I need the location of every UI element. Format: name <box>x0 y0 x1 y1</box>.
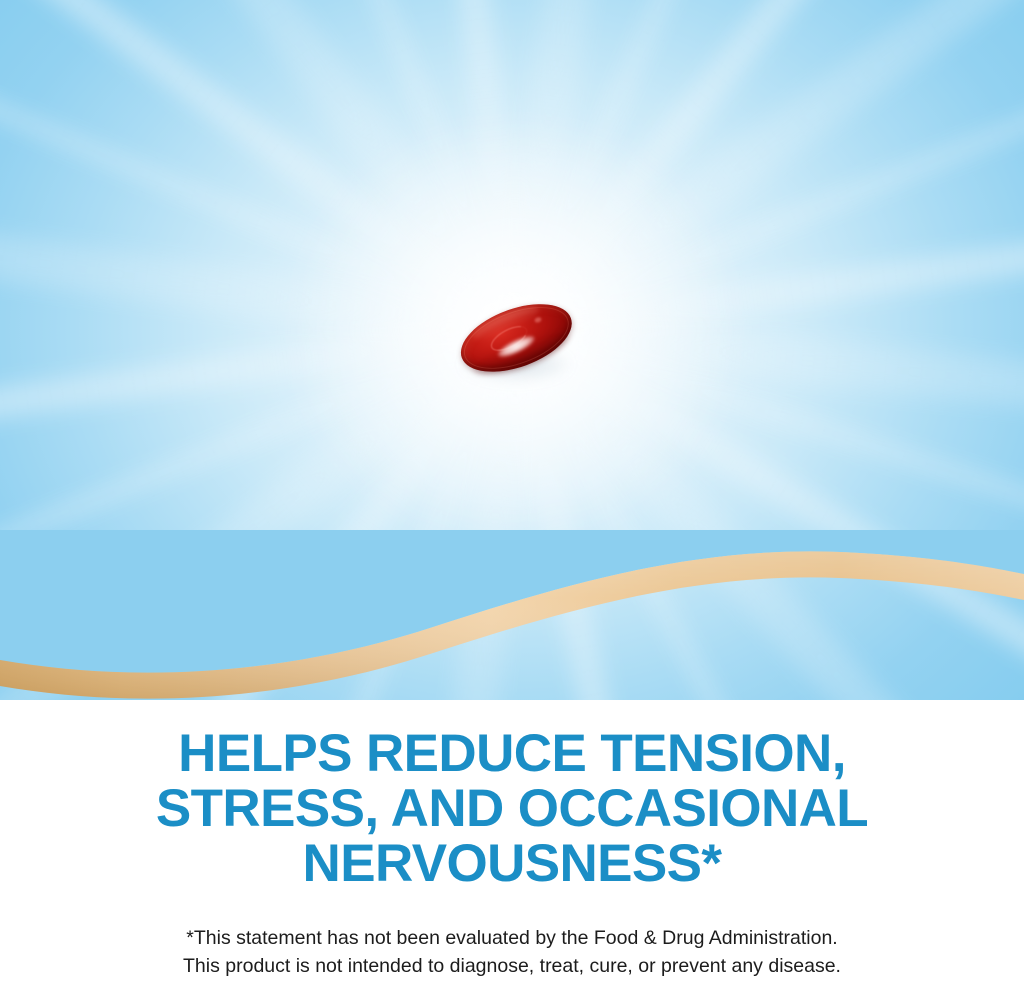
legal-disclaimer: *This statement has not been evaluated b… <box>0 924 1024 980</box>
product-marketing-panel: HELPS REDUCE TENSION, STRESS, AND OCCASI… <box>0 0 1024 991</box>
headline: HELPS REDUCE TENSION, STRESS, AND OCCASI… <box>0 726 1024 891</box>
disclaimer-line-2: This product is not intended to diagnose… <box>0 952 1024 980</box>
capsule-graphic <box>443 273 589 401</box>
headline-line-1: HELPS REDUCE TENSION, <box>0 726 1024 781</box>
disclaimer-line-1: *This statement has not been evaluated b… <box>0 924 1024 952</box>
softgel-capsule <box>455 291 577 383</box>
headline-line-2: STRESS, AND OCCASIONAL <box>0 781 1024 836</box>
gold-wave-divider <box>0 530 1024 700</box>
bottom-text-block: HELPS REDUCE TENSION, STRESS, AND OCCASI… <box>0 700 1024 991</box>
headline-line-3: NERVOUSNESS* <box>0 836 1024 891</box>
